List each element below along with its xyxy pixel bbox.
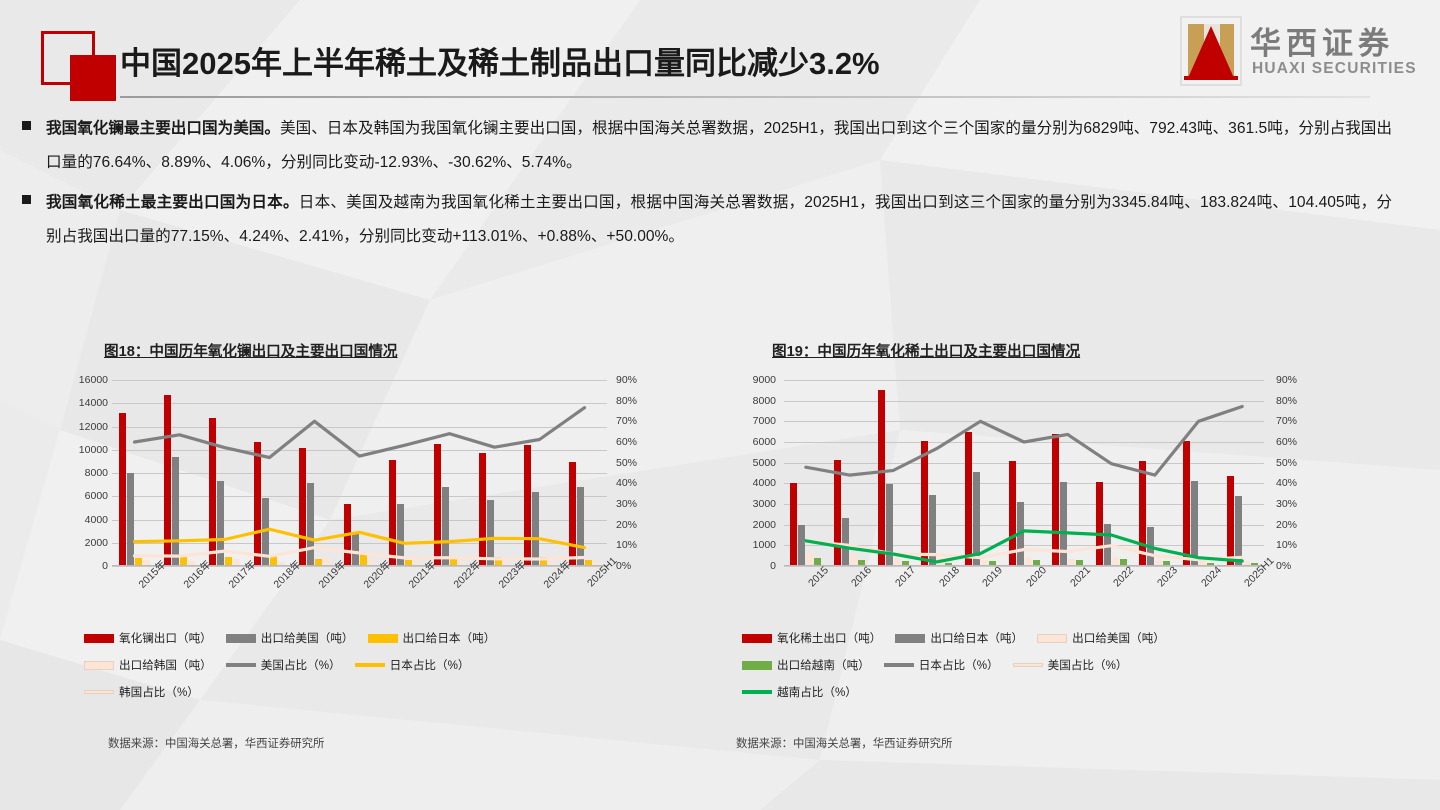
x-tick: 2020 bbox=[1002, 572, 1046, 632]
figure-18-y2-axis-labels: 0%10%20%30%40%50%60%70%80%90% bbox=[616, 380, 664, 566]
legend-item[interactable]: 出口给美国（吨） bbox=[226, 630, 354, 646]
y2-tick-label: 90% bbox=[1276, 374, 1297, 386]
legend-label: 出口给美国（吨） bbox=[1072, 630, 1165, 646]
x-tick: 2016年 bbox=[157, 572, 202, 632]
x-tick: 2022年 bbox=[427, 572, 472, 632]
x-tick: 2020年 bbox=[337, 572, 382, 632]
figure-19-plot bbox=[784, 380, 1264, 566]
legend-label: 出口给日本（吨） bbox=[403, 630, 496, 646]
legend-bar-swatch bbox=[84, 634, 114, 643]
figure-19-source: 数据来源：中国海关总署，华西证券研究所 bbox=[736, 735, 952, 751]
legend-row: 越南占比（%） bbox=[742, 684, 1382, 700]
legend-line-swatch bbox=[84, 690, 114, 694]
bullet-square-icon bbox=[22, 195, 31, 204]
legend-row: 韩国占比（%） bbox=[84, 684, 724, 700]
legend-bar-swatch bbox=[226, 634, 256, 643]
x-tick: 2017年 bbox=[202, 572, 247, 632]
gridline bbox=[784, 566, 1264, 567]
bullet-item: 我国氧化镧最主要出口国为美国。美国、日本及韩国为我国氧化镧主要出口国，根据中国海… bbox=[0, 112, 1440, 180]
logo-company-name-cn: 华西证券 bbox=[1250, 18, 1394, 63]
legend-bar-swatch bbox=[84, 661, 114, 670]
legend-label: 出口给日本（吨） bbox=[930, 630, 1023, 646]
figure-19-block: 图19：中国历年氧化稀土出口及主要出口国情况 01000200030004000… bbox=[720, 330, 1360, 780]
x-tick: 2024 bbox=[1177, 572, 1221, 632]
bullet-item: 我国氧化稀土最主要出口国为日本。日本、美国及越南为我国氧化稀土主要出口国，根据中… bbox=[0, 186, 1440, 254]
figure-19-legend: 氧化稀土出口（吨）出口给日本（吨）出口给美国（吨）出口给越南（吨）日本占比（%）… bbox=[742, 630, 1382, 711]
gridline bbox=[112, 566, 607, 567]
figure-19-plot-area: 0100020003000400050006000700080009000 0%… bbox=[720, 380, 1360, 580]
legend-item[interactable]: 美国占比（%） bbox=[1013, 657, 1128, 673]
x-tick: 2021 bbox=[1046, 572, 1090, 632]
legend-row: 氧化稀土出口（吨）出口给日本（吨）出口给美国（吨） bbox=[742, 630, 1382, 646]
y-tick-label: 10000 bbox=[79, 444, 108, 456]
y-tick-label: 9000 bbox=[753, 374, 776, 386]
y-tick-label: 5000 bbox=[753, 457, 776, 469]
legend-item[interactable]: 出口给日本（吨） bbox=[368, 630, 496, 646]
x-tick: 2025H1 bbox=[562, 572, 607, 632]
figure-18-plot-area: 0200040006000800010000120001400016000 0%… bbox=[60, 380, 700, 580]
legend-label: 出口给美国（吨） bbox=[261, 630, 354, 646]
legend-bar-swatch bbox=[742, 634, 772, 643]
legend-label: 出口给韩国（吨） bbox=[119, 657, 212, 673]
figure-18-y-axis-labels: 0200040006000800010000120001400016000 bbox=[60, 380, 108, 566]
legend-item[interactable]: 出口给美国（吨） bbox=[1037, 630, 1165, 646]
legend-label: 美国占比（%） bbox=[1048, 657, 1128, 673]
legend-row: 出口给韩国（吨）美国占比（%）日本占比（%） bbox=[84, 657, 724, 673]
line-series bbox=[806, 407, 1242, 476]
y2-tick-label: 40% bbox=[1276, 477, 1297, 489]
line-series bbox=[135, 408, 585, 458]
x-tick: 2015 bbox=[784, 572, 828, 632]
figure-19-title: 图19：中国历年氧化稀土出口及主要出口国情况 bbox=[772, 340, 1080, 361]
legend-line-swatch bbox=[1013, 663, 1043, 667]
x-tick: 2025H1 bbox=[1220, 572, 1264, 632]
legend-bar-swatch bbox=[895, 634, 925, 643]
legend-item[interactable]: 氧化镧出口（吨） bbox=[84, 630, 212, 646]
x-tick: 2023年 bbox=[472, 572, 517, 632]
slide-header: 中国2025年上半年稀土及稀土制品出口量同比减少3.2% 华西证券 HUAXI … bbox=[0, 0, 1440, 104]
y2-tick-label: 50% bbox=[1276, 457, 1297, 469]
x-tick: 2024年 bbox=[517, 572, 562, 632]
huaxi-logo: 华西证券 HUAXI SECURITIES bbox=[1176, 12, 1426, 90]
y-tick-label: 12000 bbox=[79, 421, 108, 433]
bullet-list: 我国氧化镧最主要出口国为美国。美国、日本及韩国为我国氧化镧主要出口国，根据中国海… bbox=[0, 112, 1440, 260]
y2-tick-label: 80% bbox=[616, 395, 637, 407]
y-tick-label: 4000 bbox=[85, 514, 108, 526]
figure-19-y-axis-labels: 0100020003000400050006000700080009000 bbox=[728, 380, 776, 566]
y2-tick-label: 30% bbox=[1276, 498, 1297, 510]
title-underline-rule bbox=[120, 96, 1370, 98]
y-tick-label: 2000 bbox=[753, 519, 776, 531]
x-tick: 2022 bbox=[1089, 572, 1133, 632]
page-title: 中国2025年上半年稀土及稀土制品出口量同比减少3.2% bbox=[120, 38, 880, 83]
legend-label: 日本占比（%） bbox=[919, 657, 999, 673]
legend-bar-swatch bbox=[742, 661, 772, 670]
legend-label: 氧化稀土出口（吨） bbox=[777, 630, 881, 646]
y2-tick-label: 80% bbox=[1276, 395, 1297, 407]
legend-label: 越南占比（%） bbox=[777, 684, 857, 700]
x-tick: 2017 bbox=[871, 572, 915, 632]
legend-item[interactable]: 出口给越南（吨） bbox=[742, 657, 870, 673]
legend-item[interactable]: 出口给日本（吨） bbox=[895, 630, 1023, 646]
y2-tick-label: 50% bbox=[616, 457, 637, 469]
x-tick: 2015年 bbox=[112, 572, 157, 632]
y2-tick-label: 20% bbox=[616, 519, 637, 531]
bullet-text: 我国氧化稀土最主要出口国为日本。日本、美国及越南为我国氧化稀土主要出口国，根据中… bbox=[46, 186, 1440, 254]
legend-item[interactable]: 氧化稀土出口（吨） bbox=[742, 630, 881, 646]
y-tick-label: 6000 bbox=[85, 490, 108, 502]
y2-tick-label: 90% bbox=[616, 374, 637, 386]
y-tick-label: 6000 bbox=[753, 436, 776, 448]
y2-tick-label: 60% bbox=[616, 436, 637, 448]
legend-bar-swatch bbox=[368, 634, 398, 643]
y-tick-label: 1000 bbox=[753, 539, 776, 551]
y2-tick-label: 20% bbox=[1276, 519, 1297, 531]
y-tick-label: 16000 bbox=[79, 374, 108, 386]
y-tick-label: 4000 bbox=[753, 477, 776, 489]
x-tick: 2018年 bbox=[247, 572, 292, 632]
x-tick: 2016 bbox=[828, 572, 872, 632]
logo-company-name-en: HUAXI SECURITIES bbox=[1252, 60, 1417, 78]
legend-item[interactable]: 日本占比（%） bbox=[355, 657, 470, 673]
legend-row: 氧化镧出口（吨）出口给美国（吨）出口给日本（吨） bbox=[84, 630, 724, 646]
legend-item[interactable]: 日本占比（%） bbox=[884, 657, 999, 673]
huaxi-logo-mark-icon bbox=[1180, 16, 1242, 86]
legend-line-swatch bbox=[884, 663, 914, 667]
bullet-lead: 我国氧化稀土最主要出口国为日本。 bbox=[46, 194, 299, 211]
bullet-text: 我国氧化镧最主要出口国为美国。美国、日本及韩国为我国氧化镧主要出口国，根据中国海… bbox=[46, 112, 1440, 180]
figure-18-source: 数据来源：中国海关总署，华西证券研究所 bbox=[108, 735, 324, 751]
legend-line-swatch bbox=[742, 690, 772, 694]
figure-18-legend: 氧化镧出口（吨）出口给美国（吨）出口给日本（吨）出口给韩国（吨）美国占比（%）日… bbox=[84, 630, 724, 711]
y2-tick-label: 0% bbox=[1276, 560, 1291, 572]
figure-19-lines bbox=[784, 380, 1264, 566]
y-tick-label: 8000 bbox=[85, 467, 108, 479]
bullet-square-icon bbox=[22, 121, 31, 130]
legend-label: 氧化镧出口（吨） bbox=[119, 630, 212, 646]
figure-18-lines bbox=[112, 380, 607, 566]
y2-tick-label: 10% bbox=[1276, 539, 1297, 551]
figure-18-block: 图18：中国历年氧化镧出口及主要出口国情况 020004000600080001… bbox=[60, 330, 700, 780]
figure-18-plot bbox=[112, 380, 607, 566]
legend-label: 出口给越南（吨） bbox=[777, 657, 870, 673]
legend-label: 韩国占比（%） bbox=[119, 684, 199, 700]
legend-label: 美国占比（%） bbox=[261, 657, 341, 673]
figure-18-title: 图18：中国历年氧化镧出口及主要出口国情况 bbox=[104, 340, 398, 361]
legend-bar-swatch bbox=[1037, 634, 1067, 643]
y2-tick-label: 70% bbox=[1276, 415, 1297, 427]
y-tick-label: 0 bbox=[770, 560, 776, 572]
y-tick-label: 7000 bbox=[753, 415, 776, 427]
y2-tick-label: 40% bbox=[616, 477, 637, 489]
figure-19-x-axis-labels: 2015201620172018201920202021202220232024… bbox=[784, 572, 1264, 632]
legend-item[interactable]: 美国占比（%） bbox=[226, 657, 341, 673]
legend-label: 日本占比（%） bbox=[390, 657, 470, 673]
y-tick-label: 2000 bbox=[85, 537, 108, 549]
legend-line-swatch bbox=[355, 663, 385, 667]
x-tick: 2019 bbox=[959, 572, 1003, 632]
y-tick-label: 8000 bbox=[753, 395, 776, 407]
legend-line-swatch bbox=[226, 663, 256, 667]
y-tick-label: 3000 bbox=[753, 498, 776, 510]
title-decoration-solid-square bbox=[70, 55, 116, 101]
x-tick: 2021年 bbox=[382, 572, 427, 632]
legend-item[interactable]: 韩国占比（%） bbox=[84, 684, 199, 700]
y2-tick-label: 60% bbox=[1276, 436, 1297, 448]
legend-item[interactable]: 越南占比（%） bbox=[742, 684, 857, 700]
x-tick: 2018 bbox=[915, 572, 959, 632]
y-tick-label: 0 bbox=[102, 560, 108, 572]
y-tick-label: 14000 bbox=[79, 397, 108, 409]
bullet-lead: 我国氧化镧最主要出口国为美国。 bbox=[46, 120, 280, 137]
y2-tick-label: 30% bbox=[616, 498, 637, 510]
y2-tick-label: 70% bbox=[616, 415, 637, 427]
x-tick: 2023 bbox=[1133, 572, 1177, 632]
legend-item[interactable]: 出口给韩国（吨） bbox=[84, 657, 212, 673]
line-series bbox=[135, 529, 585, 547]
figure-19-y2-axis-labels: 0%10%20%30%40%50%60%70%80%90% bbox=[1276, 380, 1324, 566]
y2-tick-label: 10% bbox=[616, 539, 637, 551]
legend-row: 出口给越南（吨）日本占比（%）美国占比（%） bbox=[742, 657, 1382, 673]
figure-18-x-axis-labels: 2015年2016年2017年2018年2019年2020年2021年2022年… bbox=[112, 572, 607, 632]
x-tick: 2019年 bbox=[292, 572, 337, 632]
